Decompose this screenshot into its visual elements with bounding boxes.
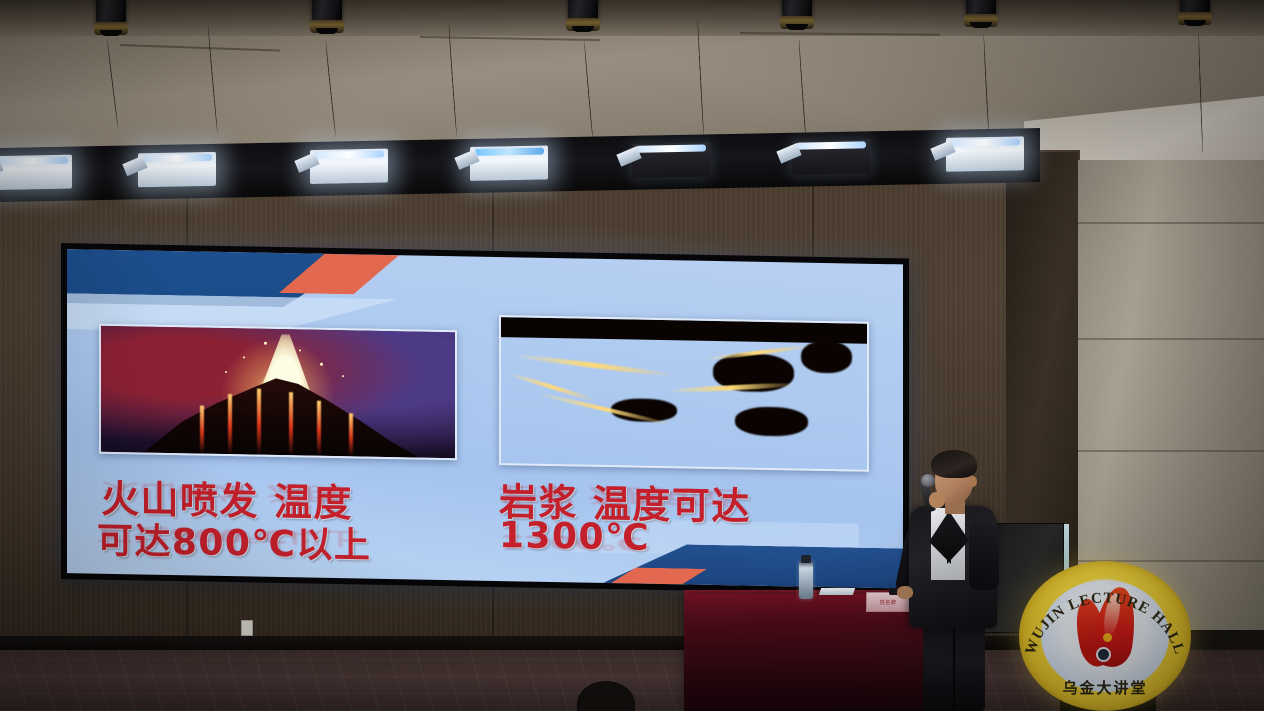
wash-light [470,145,548,180]
ceiling-seam [420,36,600,41]
ceiling-spotlight [94,0,128,40]
volcano-eruption-photo [99,324,457,461]
ceiling-spotlight [310,0,344,38]
presenter-hair [931,450,977,478]
emblem-dot-dark [1096,647,1111,662]
presentation-slide[interactable]: 火山喷发 温度 可达800℃以上 岩浆 温度可达 1300℃ 火山喷发 温度 可… [67,249,903,588]
slide-text-right-reflection: 岩浆 温度可达 [499,482,740,514]
name-card-label: 姓名牌 [880,599,897,606]
led-screen[interactable]: 火山喷发 温度 可达800℃以上 岩浆 温度可达 1300℃ 火山喷发 温度 可… [61,243,909,595]
wash-light [0,155,72,190]
presenter-ear [969,476,977,487]
ceiling-seam [120,44,280,52]
emblem-chinese-text: 乌金大讲堂 [1019,677,1191,698]
presenter-hand-holding-mic [929,492,945,508]
wash-light [946,136,1024,171]
presenter [895,448,1007,711]
emblem-dot-yellow [1103,633,1112,642]
wash-light [632,142,710,177]
wash-light [138,152,216,187]
stone-wall-panel [1078,160,1264,630]
slide-text-right-reflection2: 1300℃ [499,531,643,554]
wash-light [792,139,870,174]
paper-sheet [819,588,855,595]
presenter-leg-split [953,626,955,710]
lecture-hall-scene: 火山喷发 温度 可达800℃以上 岩浆 温度可达 1300℃ 火山喷发 温度 可… [0,0,1264,711]
slide-text-left-reflection2: 可达800℃以上 [97,522,360,553]
microphone-icon [921,474,935,487]
ceiling-spotlight [780,0,814,34]
water-bottle [799,561,813,599]
ceiling-spotlight [964,0,998,32]
ceiling-dark-band [0,0,1264,36]
venue-emblem: WUJIN LECTURE HALL 乌金大讲堂 [1019,561,1191,711]
slide-text-left-reflection: 火山喷发 温度 [101,478,342,510]
presenter-right-arm [969,522,999,590]
bottle-cap [801,555,811,563]
presenter-hand-holding-clicker [897,586,913,599]
ceiling-spotlight [566,0,600,36]
wall-outlet [241,620,253,636]
wash-light [310,149,388,184]
ceiling-spotlight [1178,0,1212,30]
flowing-lava-photo [499,315,869,472]
